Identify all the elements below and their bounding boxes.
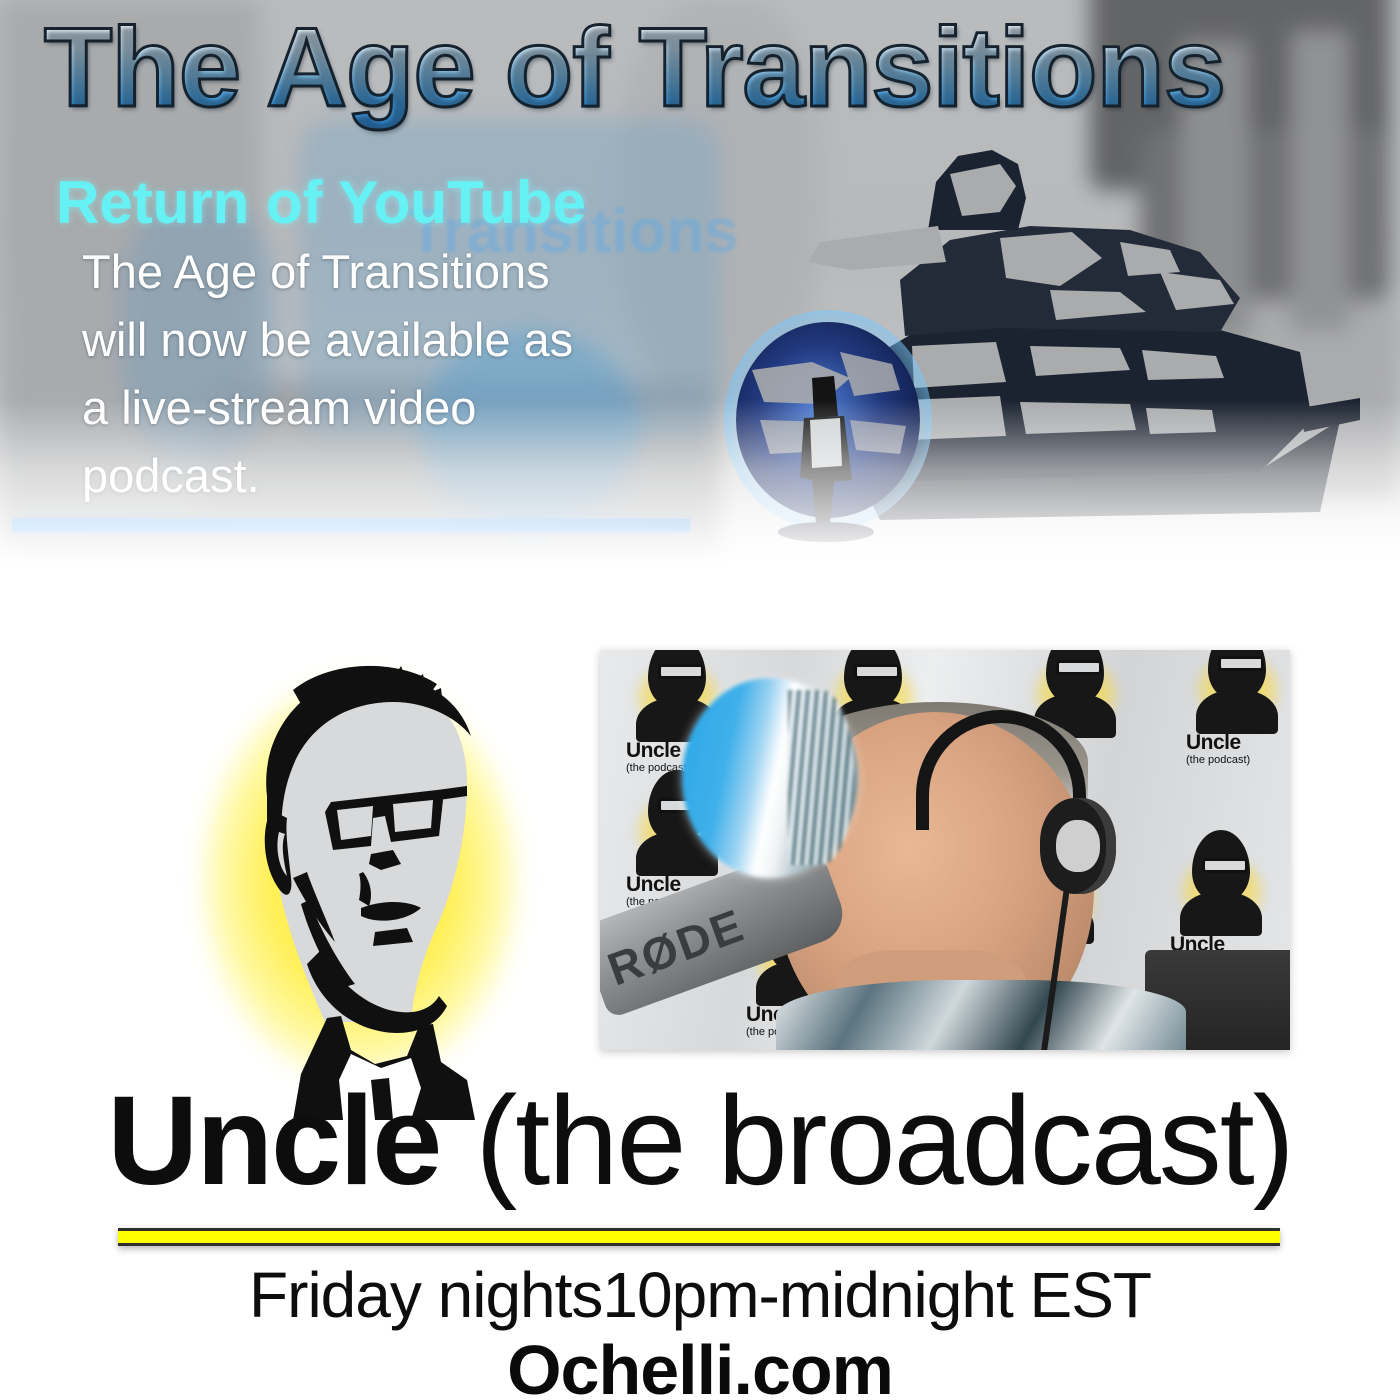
motion-blur-streak	[788, 690, 854, 865]
show-wordmark: Uncle (the broadcast)	[0, 1078, 1400, 1204]
broadcast-schedule: Friday nights10pm-midnight EST	[0, 1258, 1400, 1332]
podcast-cover-art: Transitions The Age of Transitions Retur…	[0, 0, 1400, 1400]
top-banner: Transitions The Age of Transitions Retur…	[0, 0, 1400, 600]
backdrop-logo-tile: Uncle(the podcast)	[1182, 650, 1290, 776]
video-still[interactable]: Uncle(the podcast) Uncle(the podcast) Un…	[600, 650, 1290, 1050]
lower-section: Uncle(the podcast) Uncle(the podcast) Un…	[0, 600, 1400, 1400]
banner-kicker: Return of YouTube	[56, 168, 586, 237]
yellow-divider	[118, 1228, 1280, 1246]
uncle-head-logo	[175, 650, 555, 1120]
page-title: The Age of Transitions	[44, 8, 1384, 129]
host-shirt	[776, 980, 1186, 1050]
headphone-cup-icon	[1040, 798, 1116, 894]
website-link[interactable]: Ochelli.com	[0, 1330, 1400, 1400]
wordmark-main: Uncle	[107, 1070, 440, 1211]
wordmark-sub: (the broadcast)	[475, 1070, 1292, 1211]
banner-fade-overlay	[0, 400, 1400, 600]
